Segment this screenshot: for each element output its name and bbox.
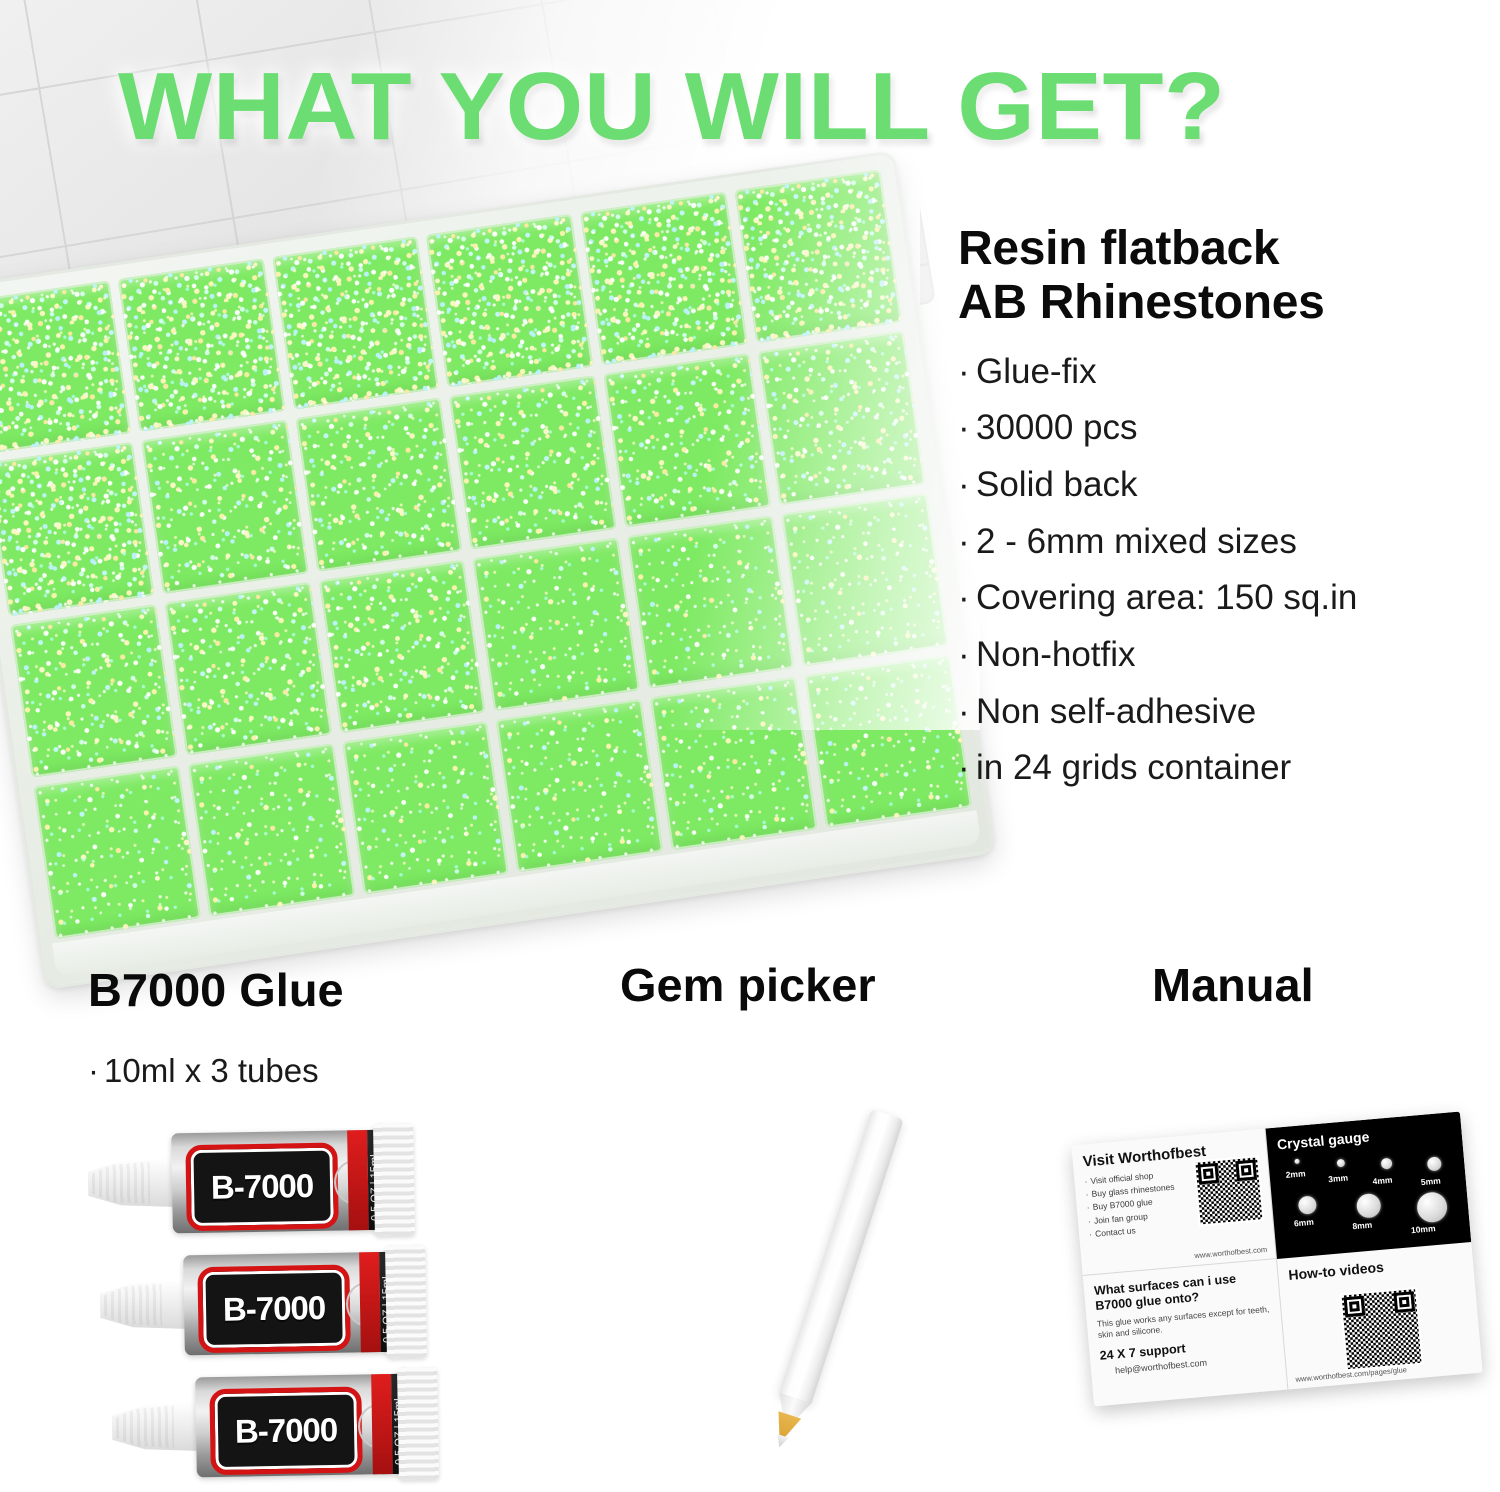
feature-item: ·in 24 grids container bbox=[958, 740, 1498, 797]
compartment bbox=[627, 515, 794, 689]
gem-sample-8mm bbox=[1356, 1193, 1382, 1219]
section-heading-manual: Manual bbox=[1152, 958, 1314, 1012]
section-heading-glue: B7000 Glue bbox=[88, 963, 344, 1017]
tube-red-stripe: Multi-Purpose Glue bbox=[347, 1130, 369, 1230]
feature-item: ·30000 pcs bbox=[958, 400, 1498, 457]
page-title: WHAT YOU WILL GET? bbox=[118, 52, 1491, 162]
tube-body: B-7000 CLEAR Multi-Purpose Glue 0.5 OZ |… bbox=[183, 1252, 393, 1356]
compartment bbox=[735, 169, 902, 343]
manual-quadrant-videos: How-to videos www.worthofbest.com/pages/… bbox=[1277, 1242, 1483, 1389]
gem-sample-5mm bbox=[1427, 1156, 1442, 1171]
compartment bbox=[758, 331, 925, 505]
compartment bbox=[496, 699, 663, 873]
compartment bbox=[164, 581, 331, 755]
gem-sample-6mm bbox=[1298, 1195, 1318, 1215]
compartment bbox=[272, 236, 439, 410]
feature-text: 30000 pcs bbox=[976, 408, 1138, 447]
feature-text: Non self-adhesive bbox=[976, 692, 1256, 731]
compartment bbox=[141, 420, 308, 594]
bullet-dot: · bbox=[958, 514, 976, 571]
bullet-dot: · bbox=[958, 344, 976, 401]
compartment bbox=[580, 192, 747, 366]
compartment bbox=[604, 353, 771, 527]
visit-item-text: Contact us bbox=[1095, 1225, 1136, 1239]
manual-quadrant-crystal-gauge: Crystal gauge 2mm 3mm 4mm 5mm 6mm 8mm 10… bbox=[1266, 1112, 1472, 1259]
compartment bbox=[650, 676, 817, 850]
compartment bbox=[188, 743, 355, 917]
bullet-dot: · bbox=[958, 684, 976, 741]
feature-item: ·2 - 6mm mixed sizes bbox=[958, 514, 1498, 571]
tube-brand-text: B-7000 bbox=[223, 1289, 326, 1329]
tube-body: B-7000 CLEAR Multi-Purpose Glue 0.5 OZ |… bbox=[171, 1130, 381, 1234]
qr-code-videos bbox=[1339, 1287, 1424, 1372]
gauge-label-3mm: 3mm bbox=[1328, 1173, 1349, 1185]
gem-sample-4mm bbox=[1381, 1158, 1393, 1170]
bullet-dot: · bbox=[958, 400, 976, 457]
compartment bbox=[0, 281, 131, 455]
pencil-body bbox=[779, 1109, 904, 1405]
tube-crimp bbox=[385, 1245, 427, 1358]
compartment-grid bbox=[0, 169, 972, 938]
features-heading-line1: Resin flatback bbox=[958, 222, 1498, 276]
tube-body: B-7000 CLEAR Multi-Purpose Glue 0.5 OZ |… bbox=[195, 1374, 405, 1478]
tube-label: B-7000 bbox=[185, 1143, 338, 1232]
feature-item: ·Solid back bbox=[958, 457, 1498, 514]
gem-sample-2mm bbox=[1294, 1159, 1299, 1164]
features-block: Resin flatback AB Rhinestones ·Glue-fix … bbox=[958, 222, 1498, 797]
qr-code-shop bbox=[1193, 1155, 1265, 1227]
gauge-label-10mm: 10mm bbox=[1411, 1223, 1436, 1235]
compartment bbox=[0, 442, 154, 616]
gem-sample-3mm bbox=[1337, 1159, 1346, 1168]
features-heading-line2: AB Rhinestones bbox=[958, 276, 1498, 330]
glue-tube: B-7000 CLEAR Multi-Purpose Glue 0.5 OZ |… bbox=[99, 1245, 431, 1363]
glue-tube: B-7000 CLEAR Multi-Purpose Glue 0.5 OZ |… bbox=[87, 1123, 419, 1241]
tube-red-stripe: Multi-Purpose Glue bbox=[371, 1374, 393, 1474]
feature-item: ·Non self-adhesive bbox=[958, 684, 1498, 741]
tube-crimp bbox=[397, 1367, 439, 1480]
bullet-dot: · bbox=[958, 627, 976, 684]
feature-text: in 24 grids container bbox=[976, 748, 1291, 787]
bullet-dot: · bbox=[88, 1052, 104, 1090]
manual-card: Visit Worthofbest ·Visit official shop ·… bbox=[1071, 1112, 1482, 1407]
bullet-dot: · bbox=[958, 570, 976, 627]
tube-label: B-7000 bbox=[197, 1265, 350, 1354]
compartment bbox=[781, 493, 948, 667]
manual-quadrant-surfaces: What surfaces can i use B7000 glue onto?… bbox=[1083, 1259, 1289, 1406]
feature-text: 2 - 6mm mixed sizes bbox=[976, 522, 1297, 561]
videos-heading: How-to videos bbox=[1288, 1252, 1464, 1283]
pencil-point bbox=[774, 1434, 789, 1449]
glue-subtitle-text: 10ml x 3 tubes bbox=[104, 1052, 319, 1089]
container-body bbox=[0, 150, 996, 990]
gauge-label-6mm: 6mm bbox=[1294, 1217, 1315, 1229]
compartment bbox=[33, 765, 200, 939]
manual-quadrant-visit: Visit Worthofbest ·Visit official shop ·… bbox=[1071, 1128, 1277, 1275]
feature-item: ·Glue-fix bbox=[958, 344, 1498, 401]
bullet-dot: · bbox=[958, 457, 976, 514]
tube-label: B-7000 bbox=[209, 1387, 362, 1476]
rhinestone-container bbox=[0, 150, 996, 990]
feature-text: Non-hotfix bbox=[976, 635, 1136, 674]
compartment bbox=[295, 398, 462, 572]
tube-brand-text: B-7000 bbox=[235, 1411, 338, 1451]
compartment bbox=[319, 559, 486, 733]
glue-subtitle: ·10ml x 3 tubes bbox=[88, 1052, 319, 1090]
gem-picker-pencil bbox=[766, 1109, 903, 1443]
feature-item: ·Covering area: 150 sq.in bbox=[958, 570, 1498, 627]
compartment bbox=[118, 258, 285, 432]
features-list: ·Glue-fix ·30000 pcs ·Solid back ·2 - 6m… bbox=[958, 344, 1498, 798]
compartment bbox=[342, 721, 509, 895]
compartment bbox=[473, 537, 640, 711]
tube-brand-text: B-7000 bbox=[211, 1167, 314, 1207]
gauge-label-4mm: 4mm bbox=[1372, 1175, 1393, 1187]
compartment bbox=[426, 214, 593, 388]
feature-text: Covering area: 150 sq.in bbox=[976, 578, 1357, 617]
tube-crimp bbox=[373, 1123, 415, 1236]
compartment bbox=[10, 604, 177, 778]
gauge-label-2mm: 2mm bbox=[1285, 1168, 1306, 1180]
compartment bbox=[450, 375, 617, 549]
section-heading-gem-picker: Gem picker bbox=[620, 958, 876, 1012]
compartment bbox=[805, 654, 972, 828]
glue-tube: B-7000 CLEAR Multi-Purpose Glue 0.5 OZ |… bbox=[111, 1367, 443, 1485]
gem-sample-10mm bbox=[1416, 1191, 1449, 1224]
tube-red-stripe: Multi-Purpose Glue bbox=[359, 1252, 381, 1352]
feature-text: Solid back bbox=[976, 465, 1137, 504]
visit-url: www.worthofbest.com bbox=[1194, 1245, 1267, 1260]
gauge-label-8mm: 8mm bbox=[1352, 1220, 1373, 1232]
bullet-dot: · bbox=[958, 740, 976, 797]
feature-item: ·Non-hotfix bbox=[958, 627, 1498, 684]
feature-text: Glue-fix bbox=[976, 352, 1097, 391]
